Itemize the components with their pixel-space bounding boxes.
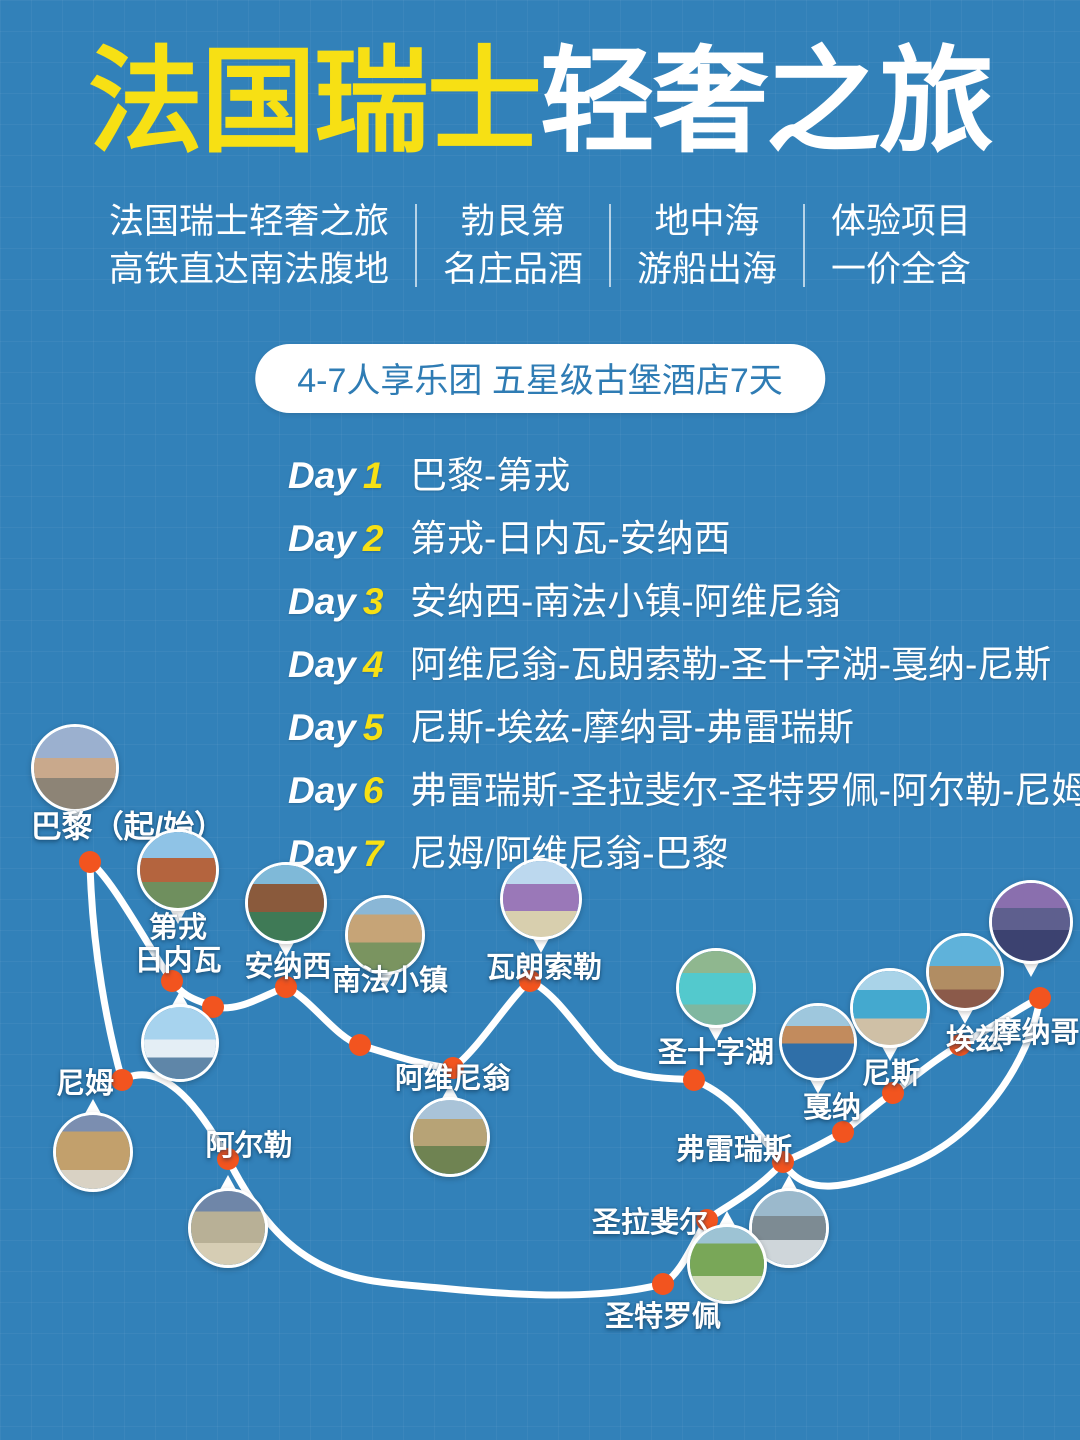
destination-photo bbox=[850, 968, 930, 1048]
page-title: 法国瑞士轻奢之旅 bbox=[0, 38, 1080, 167]
destination-photo bbox=[141, 1004, 219, 1082]
map-photo-marker[interactable] bbox=[687, 1224, 767, 1304]
map-node-dot[interactable] bbox=[683, 1069, 705, 1091]
city-label: 阿维尼翁 bbox=[395, 1055, 511, 1097]
map-photo-marker[interactable] bbox=[141, 1004, 219, 1082]
photo-fill bbox=[992, 883, 1070, 961]
destination-photo bbox=[779, 1003, 857, 1081]
photo-fill bbox=[690, 1227, 764, 1301]
photo-fill bbox=[191, 1191, 265, 1265]
day-route: 阿维尼翁-瓦朗索勒-圣十字湖-戛纳-尼斯 bbox=[410, 634, 1051, 688]
photo-fill bbox=[56, 1115, 130, 1189]
day-route: 安纳西-南法小镇-阿维尼翁 bbox=[410, 571, 842, 625]
photo-fill bbox=[853, 971, 927, 1045]
day-number: 1 bbox=[363, 455, 384, 496]
photo-fill bbox=[248, 865, 324, 941]
city-label: 尼姆 bbox=[56, 1060, 114, 1102]
subtitle-column-4: 体验项目 一价全含 bbox=[805, 198, 997, 293]
day-number: 4 bbox=[363, 644, 384, 685]
destination-photo bbox=[410, 1097, 490, 1177]
day-route: 巴黎-第戎 bbox=[410, 445, 570, 499]
route-map: 巴黎（起/始）第戎日内瓦安纳西南法小镇阿维尼翁瓦朗索勒圣十字湖戛纳尼斯埃兹摩纳哥… bbox=[0, 700, 1080, 1440]
day-tag: Day1 bbox=[288, 455, 410, 497]
city-label: 安纳西 bbox=[244, 943, 331, 985]
map-photo-marker[interactable] bbox=[500, 858, 582, 940]
title-highlight: 法国瑞士 bbox=[88, 35, 540, 169]
day-number: 3 bbox=[363, 581, 384, 622]
destination-photo bbox=[137, 829, 219, 911]
destination-photo bbox=[989, 880, 1073, 964]
itinerary-row: Day4阿维尼翁-瓦朗索勒-圣十字湖-戛纳-尼斯 bbox=[288, 634, 1080, 688]
day-word: Day bbox=[288, 644, 356, 685]
city-label: 尼斯 bbox=[862, 1050, 920, 1092]
photo-fill bbox=[503, 861, 579, 937]
subtitle-line: 名庄品酒 bbox=[443, 246, 583, 294]
day-tag: Day4 bbox=[288, 644, 410, 686]
day-word: Day bbox=[288, 518, 356, 559]
photo-fill bbox=[413, 1100, 487, 1174]
map-photo-marker[interactable] bbox=[245, 862, 327, 944]
subtitle-column-1: 法国瑞士轻奢之旅 高铁直达南法腹地 bbox=[83, 198, 415, 293]
subtitle-line: 体验项目 bbox=[831, 198, 971, 246]
destination-photo bbox=[53, 1112, 133, 1192]
day-word: Day bbox=[288, 455, 356, 496]
city-label: 弗雷瑞斯 bbox=[676, 1126, 792, 1168]
photo-fill bbox=[144, 1007, 216, 1079]
tour-package-badge: 4-7人享乐团 五星级古堡酒店7天 bbox=[255, 344, 825, 413]
city-label: 日内瓦 bbox=[134, 937, 221, 979]
destination-photo bbox=[245, 862, 327, 944]
subtitle-line: 一价全含 bbox=[831, 246, 971, 294]
map-node-dot[interactable] bbox=[79, 851, 101, 873]
map-photo-marker[interactable] bbox=[676, 948, 756, 1028]
map-photo-marker[interactable] bbox=[188, 1188, 268, 1268]
photo-fill bbox=[679, 951, 753, 1025]
map-photo-marker[interactable] bbox=[31, 724, 119, 812]
map-photo-marker[interactable] bbox=[779, 1003, 857, 1081]
destination-photo bbox=[188, 1188, 268, 1268]
itinerary-row: Day1巴黎-第戎 bbox=[288, 445, 1080, 499]
map-photo-marker[interactable] bbox=[137, 829, 219, 911]
city-label: 圣十字湖 bbox=[658, 1029, 774, 1071]
subtitle-line: 法国瑞士轻奢之旅 bbox=[109, 198, 389, 246]
subtitle-line: 地中海 bbox=[637, 198, 777, 246]
map-node-dot[interactable] bbox=[652, 1273, 674, 1295]
destination-photo bbox=[687, 1224, 767, 1304]
subtitle-column-3: 地中海 游船出海 bbox=[611, 198, 803, 293]
photo-fill bbox=[140, 832, 216, 908]
day-tag: Day3 bbox=[288, 581, 410, 623]
day-word: Day bbox=[288, 581, 356, 622]
subtitle-column-2: 勃艮第 名庄品酒 bbox=[417, 198, 609, 293]
destination-photo bbox=[31, 724, 119, 812]
map-node-dot[interactable] bbox=[1029, 987, 1051, 1009]
city-label: 阿尔勒 bbox=[205, 1122, 292, 1164]
city-label: 瓦朗索勒 bbox=[486, 944, 602, 986]
title-rest: 轻奢之旅 bbox=[540, 35, 992, 169]
itinerary-row: Day3安纳西-南法小镇-阿维尼翁 bbox=[288, 571, 1080, 625]
map-photo-marker[interactable] bbox=[850, 968, 930, 1048]
subtitle-line: 勃艮第 bbox=[443, 198, 583, 246]
map-photo-marker[interactable] bbox=[53, 1112, 133, 1192]
city-label: 摩纳哥 bbox=[992, 1009, 1079, 1051]
photo-fill bbox=[782, 1006, 854, 1078]
day-number: 2 bbox=[363, 518, 384, 559]
destination-photo bbox=[676, 948, 756, 1028]
city-label: 戛纳 bbox=[803, 1084, 861, 1126]
subtitle-line: 游船出海 bbox=[637, 246, 777, 294]
map-photo-marker[interactable] bbox=[989, 880, 1073, 964]
subtitle-line: 高铁直达南法腹地 bbox=[109, 246, 389, 294]
itinerary-row: Day2第戎-日内瓦-安纳西 bbox=[288, 508, 1080, 562]
day-tag: Day2 bbox=[288, 518, 410, 560]
map-photo-marker[interactable] bbox=[410, 1097, 490, 1177]
day-route: 第戎-日内瓦-安纳西 bbox=[410, 508, 731, 562]
subtitle-feature-row: 法国瑞士轻奢之旅 高铁直达南法腹地 勃艮第 名庄品酒 地中海 游船出海 体验项目… bbox=[0, 198, 1080, 293]
city-label: 圣特罗佩 bbox=[605, 1293, 721, 1335]
city-label: 南法小镇 bbox=[332, 957, 448, 999]
destination-photo bbox=[500, 858, 582, 940]
map-node-dot[interactable] bbox=[111, 1069, 133, 1091]
photo-fill bbox=[34, 727, 116, 809]
map-node-dot[interactable] bbox=[349, 1034, 371, 1056]
